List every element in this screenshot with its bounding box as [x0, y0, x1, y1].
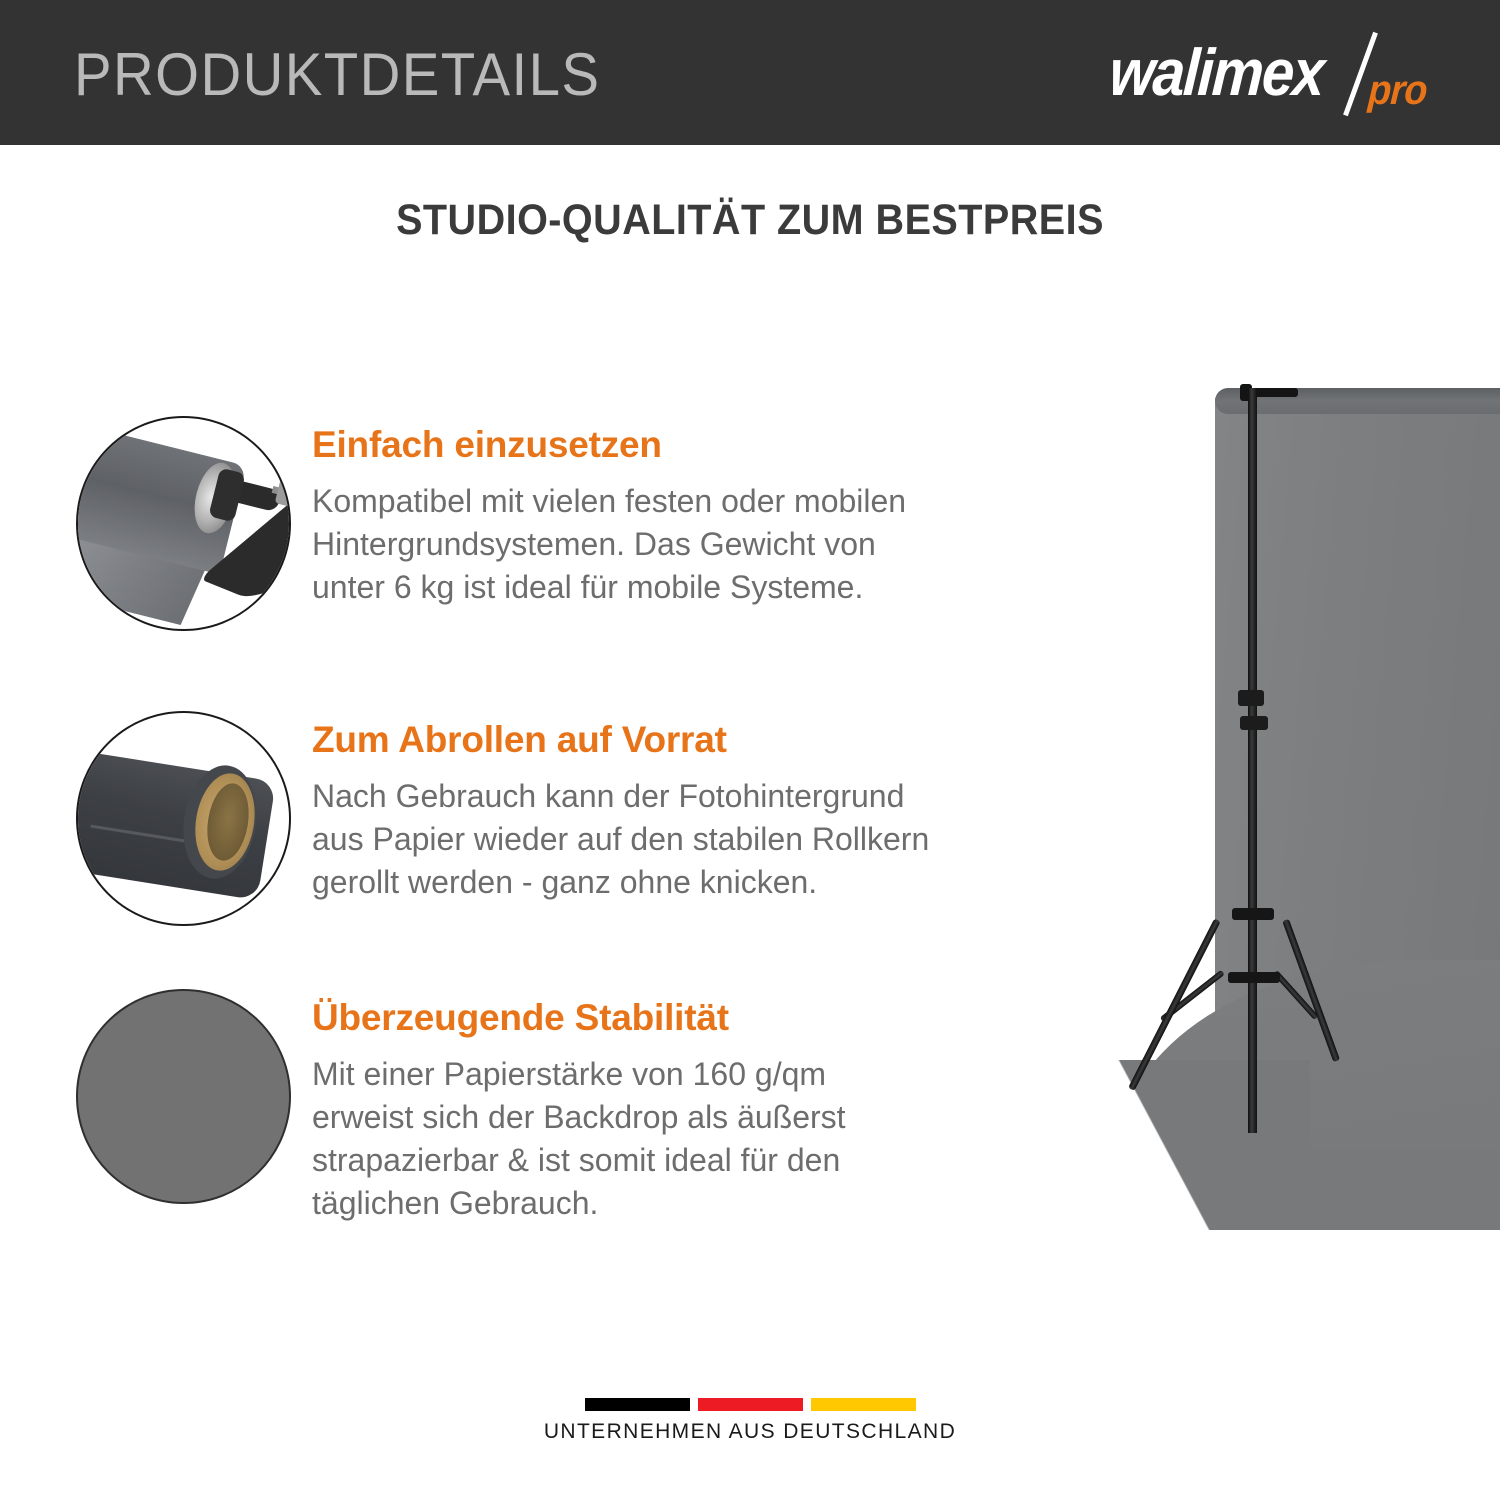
feature-icon-slot [62, 408, 312, 640]
stand-height-collar-shape [1238, 690, 1264, 706]
product-details-infographic: PRODUKTDETAILS walimex pro STUDIO-QUALIT… [0, 0, 1500, 1500]
feature-body: Mit einer Papierstärke von 160 g/qm erwe… [312, 1053, 1070, 1225]
walimex-pro-logo: walimex pro [1112, 30, 1442, 116]
backdrop-floor-edge-shape [1060, 1060, 1310, 1230]
feature-title: Einfach einzusetzen [312, 424, 1070, 466]
clamp-shape [275, 474, 291, 508]
feature-title: Überzeugende Stabilität [312, 997, 1070, 1039]
feature-text-block: Zum Abrollen auf Vorrat Nach Gebrauch ka… [312, 703, 1100, 904]
feature-list: Einfach einzusetzen Kompatibel mit viele… [0, 400, 1100, 1225]
feature-text-block: Überzeugende Stabilität Mit einer Papier… [312, 981, 1100, 1225]
flag-bar-red [698, 1398, 803, 1411]
feature-icon-slot [62, 703, 312, 935]
flag-bar-black [585, 1398, 690, 1411]
main-headline: STUDIO-QUALITÄT ZUM BESTPREIS [60, 196, 1440, 245]
header-bar: PRODUKTDETAILS walimex pro [0, 0, 1500, 145]
flag-bar-gold [811, 1398, 916, 1411]
paper-roll-on-bracket-icon [76, 416, 291, 631]
paper-roll-with-core-icon [76, 711, 291, 926]
feature-item: Einfach einzusetzen Kompatibel mit viele… [0, 408, 1100, 640]
feature-body: Kompatibel mit vielen festen oder mobile… [312, 480, 1070, 609]
feature-body: Nach Gebrauch kann der Fotohintergrund a… [312, 775, 1070, 904]
feature-item: Zum Abrollen auf Vorrat Nach Gebrauch ka… [0, 703, 1100, 935]
footer-caption: UNTERNEHMEN AUS DEUTSCHLAND [0, 1420, 1500, 1444]
feature-item: Überzeugende Stabilität Mit einer Papier… [0, 981, 1100, 1225]
feature-icon-slot [62, 981, 312, 1213]
product-photo [1060, 360, 1500, 1230]
feature-title: Zum Abrollen auf Vorrat [312, 719, 1070, 761]
stand-height-collar-shape [1240, 716, 1268, 730]
grey-color-swatch-icon [76, 989, 291, 1204]
logo-suffix-text: pro [1367, 66, 1428, 114]
stand-vertical-pole-shape [1248, 388, 1257, 1133]
page-title: PRODUKTDETAILS [74, 40, 600, 109]
tripod-hub-shape [1228, 972, 1280, 983]
german-flag-bars [0, 1398, 1500, 1411]
tripod-hub-shape [1232, 908, 1274, 920]
feature-text-block: Einfach einzusetzen Kompatibel mit viele… [312, 408, 1100, 609]
logo-brand-text: walimex [1107, 34, 1325, 110]
footer: UNTERNEHMEN AUS DEUTSCHLAND [0, 1398, 1500, 1444]
